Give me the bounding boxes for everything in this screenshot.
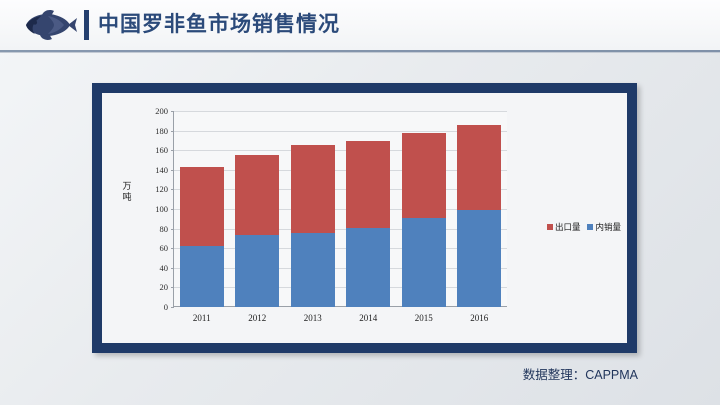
chart-legend: 出口量内销量 [547,221,621,233]
x-axis-tick-label: 2014 [338,313,398,323]
y-axis-tick-label: 200 [155,106,168,116]
slide-header: 中国罗非鱼市场销售情况 [0,0,720,50]
x-axis-tick-label: 2012 [227,313,287,323]
y-axis-tick-mark [171,307,174,308]
header-divider-secondary [0,52,720,53]
y-axis-title: 万 吨 [116,181,138,203]
y-axis-tick-label: 120 [155,184,168,194]
legend-swatch-icon [547,224,553,230]
x-axis-tick-label: 2011 [172,313,232,323]
bar-group[interactable] [457,111,501,307]
bar-group[interactable] [402,111,446,307]
y-axis-tick-label: 0 [164,302,168,312]
tilapia-fish-logo-icon [18,8,78,42]
bar-group[interactable] [291,111,335,307]
legend-label: 出口量 [555,221,581,233]
bar-segment-domestic[interactable] [402,218,446,307]
slide-root: 中国罗非鱼市场销售情况 万 吨 020406080100120140160180… [0,0,720,405]
y-axis-tick-label: 40 [160,263,169,273]
legend-swatch-icon [587,224,593,230]
bar-group[interactable] [180,111,224,307]
bar-segment-export[interactable] [180,167,224,246]
chart-canvas: 万 吨 020406080100120140160180200 20112012… [102,93,627,343]
y-axis-title-line2: 吨 [116,192,138,203]
bar-segment-export[interactable] [402,133,446,218]
bar-segment-domestic[interactable] [346,228,390,307]
bar-segment-domestic[interactable] [180,246,224,307]
title-accent-bar [84,10,89,40]
bar-segment-domestic[interactable] [457,210,501,307]
y-axis-line [173,111,174,307]
y-axis-tick-label: 160 [155,145,168,155]
y-axis-tick-label: 80 [160,224,169,234]
y-axis-tick-label: 140 [155,165,168,175]
y-axis-tick-label: 100 [155,204,168,214]
legend-label: 内销量 [595,221,621,233]
source-note: 数据整理：CAPPMA [523,364,638,383]
y-axis-tick-label: 60 [160,243,169,253]
bar-segment-export[interactable] [457,125,501,210]
bar-group[interactable] [346,111,390,307]
y-axis-title-line1: 万 [116,181,138,192]
bar-group[interactable] [235,111,279,307]
x-axis-tick-label: 2015 [394,313,454,323]
plot-area: 020406080100120140160180200 201120122013… [174,111,507,307]
bar-segment-export[interactable] [235,155,279,235]
y-axis-tick-label: 180 [155,126,168,136]
y-axis-tick-label: 20 [160,282,169,292]
legend-item[interactable]: 出口量 [547,221,581,233]
page-title: 中国罗非鱼市场销售情况 [98,11,340,39]
legend-item[interactable]: 内销量 [587,221,621,233]
x-axis-tick-label: 2016 [449,313,509,323]
bar-segment-export[interactable] [291,145,335,232]
bar-segment-export[interactable] [346,141,390,227]
chart-frame: 万 吨 020406080100120140160180200 20112012… [92,83,637,353]
bar-segment-domestic[interactable] [235,235,279,307]
x-axis-tick-label: 2013 [283,313,343,323]
bar-segment-domestic[interactable] [291,233,335,307]
